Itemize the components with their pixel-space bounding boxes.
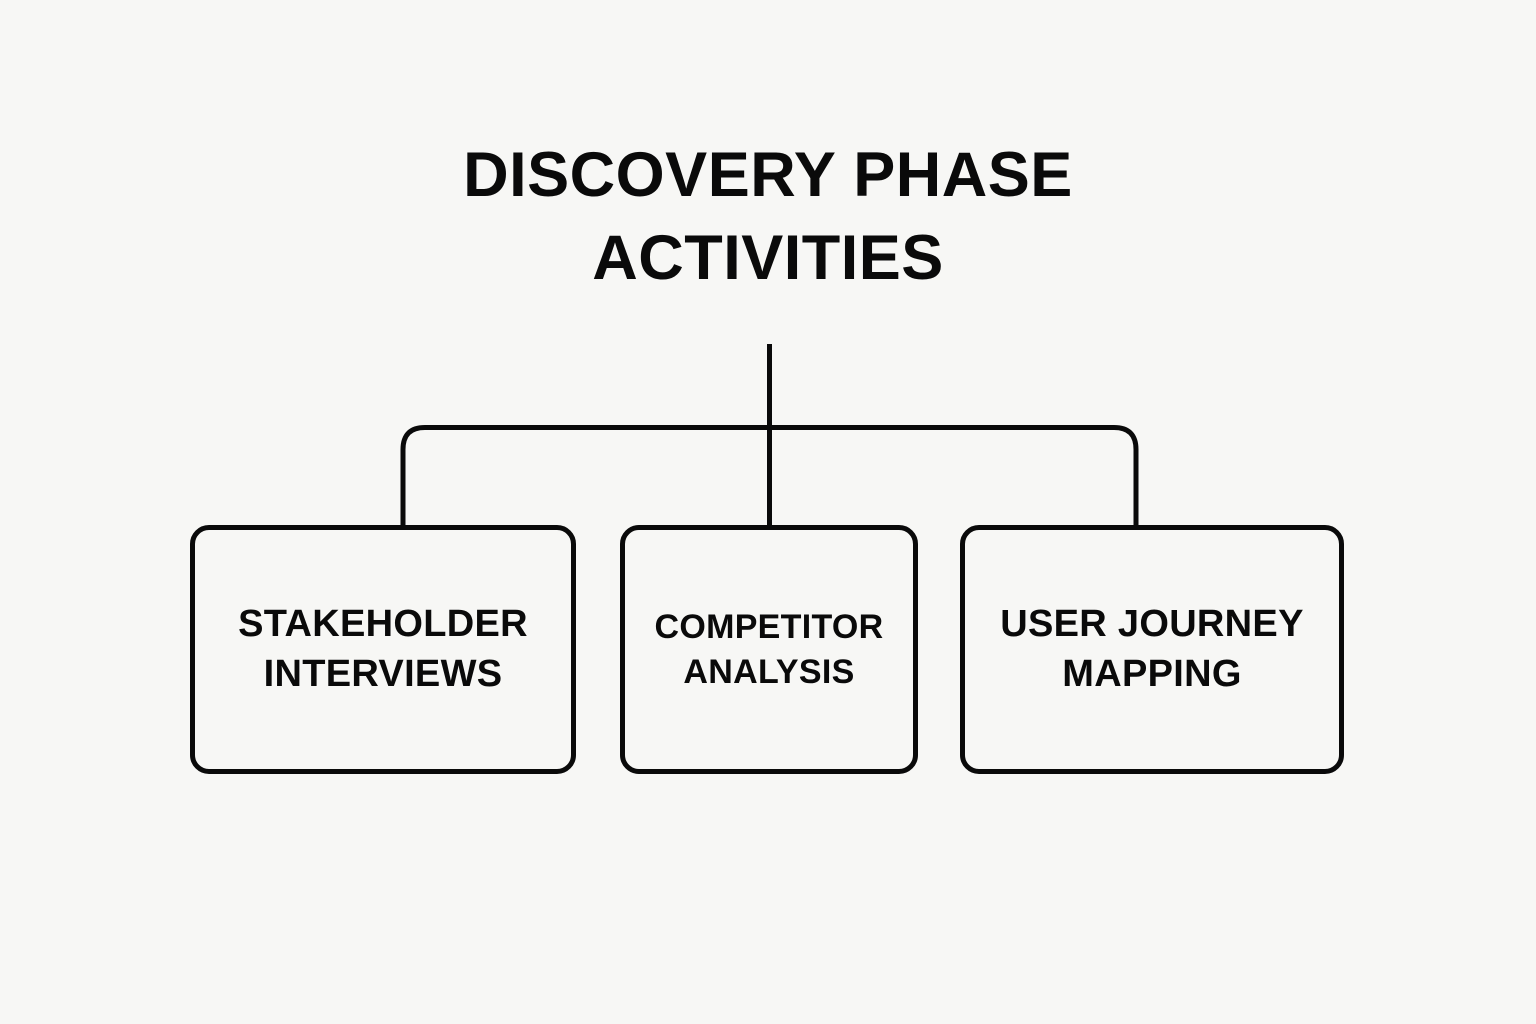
node-user-journey-mapping[interactable]: USER JOURNEY MAPPING — [960, 525, 1344, 774]
node-competitor-analysis[interactable]: COMPETITOR ANALYSIS — [620, 525, 918, 774]
node-label: STAKEHOLDER INTERVIEWS — [224, 600, 542, 699]
node-label: USER JOURNEY MAPPING — [986, 600, 1317, 699]
connector-branch-left — [403, 428, 770, 528]
page-title: DISCOVERY PHASE ACTIVITIES — [0, 134, 1536, 300]
node-label: COMPETITOR ANALYSIS — [640, 605, 897, 693]
diagram-canvas: DISCOVERY PHASE ACTIVITIES STAKEHOLDER I… — [0, 0, 1536, 1024]
connector-branch-right — [770, 428, 1137, 528]
node-stakeholder-interviews[interactable]: STAKEHOLDER INTERVIEWS — [190, 525, 576, 774]
